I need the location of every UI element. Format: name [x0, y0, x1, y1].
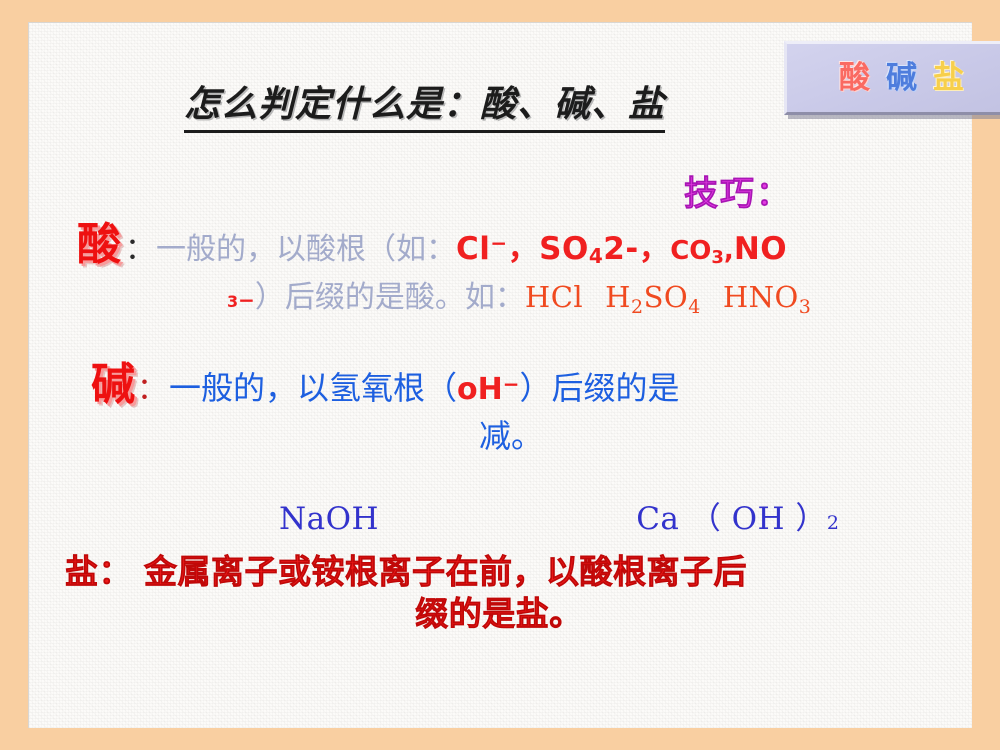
acid-ion-nitrate-sub: 3	[227, 292, 238, 311]
acid-base-salt-plaque: 酸 碱 盐	[784, 41, 1000, 115]
acid-line-1: 酸 ： 一般的，以酸根（如： Cl− ， SO42- ， CO3 , NO	[77, 223, 967, 268]
base-formula-row: NaOH Ca （ OH ） 2	[279, 493, 899, 538]
base-hydroxide-ion: oH−	[457, 372, 519, 407]
salt-line-2: 缀的是盐。	[65, 593, 973, 635]
base-description-c: 减。	[479, 417, 543, 455]
acid-line-2: 3 − ）后缀的是酸。如： HCl H2SO4 HNO3	[77, 272, 967, 318]
formula-naoh: NaOH	[279, 501, 379, 537]
acid-ion-sep-3: ,	[724, 236, 734, 266]
plaque-char-base: 碱	[886, 63, 917, 94]
acid-description-a: 一般的，以酸根（如：	[156, 224, 456, 268]
acid-description-b: ）后缀的是酸。如：	[255, 272, 525, 316]
salt-definition-block: 盐： 金属离子或铵根离子在前，以酸根离子后 缀的是盐。	[65, 551, 973, 635]
base-definition-block: 碱 ： 一般的，以氢氧根（ oH− ）后缀的是 减。	[91, 363, 971, 457]
base-headword: 碱	[91, 363, 135, 407]
base-line-1: 碱 ： 一般的，以氢氧根（ oH− ）后缀的是	[91, 363, 971, 409]
tips-label: 技巧：	[684, 166, 792, 215]
plaque-char-salt: 盐	[933, 63, 964, 94]
formula-calcium-hydroxide: Ca （ OH ）	[636, 493, 827, 538]
plaque-char-acid: 酸	[839, 63, 870, 94]
acid-colon: ：	[125, 224, 155, 268]
acid-example-hcl: HCl	[525, 280, 583, 314]
base-line-2: 减。	[91, 411, 971, 457]
acid-headword: 酸	[77, 223, 121, 267]
acid-definition-block: 酸 ： 一般的，以酸根（如： Cl− ， SO42- ， CO3 , NO 3 …	[77, 223, 967, 318]
acid-ion-sep-1: ，	[508, 223, 540, 268]
acid-ion-sep-2: ，	[639, 223, 671, 268]
acid-ion-carbonate: CO3	[670, 236, 724, 268]
acid-example-nitric: HNO3	[723, 280, 812, 318]
acid-example-sulfuric: H2SO4	[605, 280, 701, 318]
acid-ion-chloride: Cl−	[456, 231, 508, 267]
page-title: 怎么判定什么是：酸、碱、盐	[184, 75, 665, 133]
formula-calcium-hydroxide-sub: 2	[827, 512, 839, 534]
slide-canvas: 酸 碱 盐 怎么判定什么是：酸、碱、盐 技巧： 酸 ： 一般的，以酸根（如： C…	[0, 0, 1000, 750]
slide-content-area: 酸 碱 盐 怎么判定什么是：酸、碱、盐 技巧： 酸 ： 一般的，以酸根（如： C…	[28, 22, 972, 728]
salt-line-1: 盐： 金属离子或铵根离子在前，以酸根离子后	[65, 551, 973, 593]
base-description-a: 一般的，以氢氧根（	[169, 363, 457, 409]
acid-ion-nitrate-base: NO	[734, 231, 787, 267]
acid-ion-sulfate: SO42-	[539, 231, 639, 268]
acid-ion-nitrate-sup: −	[238, 288, 255, 312]
base-colon: ：	[137, 364, 167, 408]
base-description-b: ）后缀的是	[520, 363, 680, 409]
